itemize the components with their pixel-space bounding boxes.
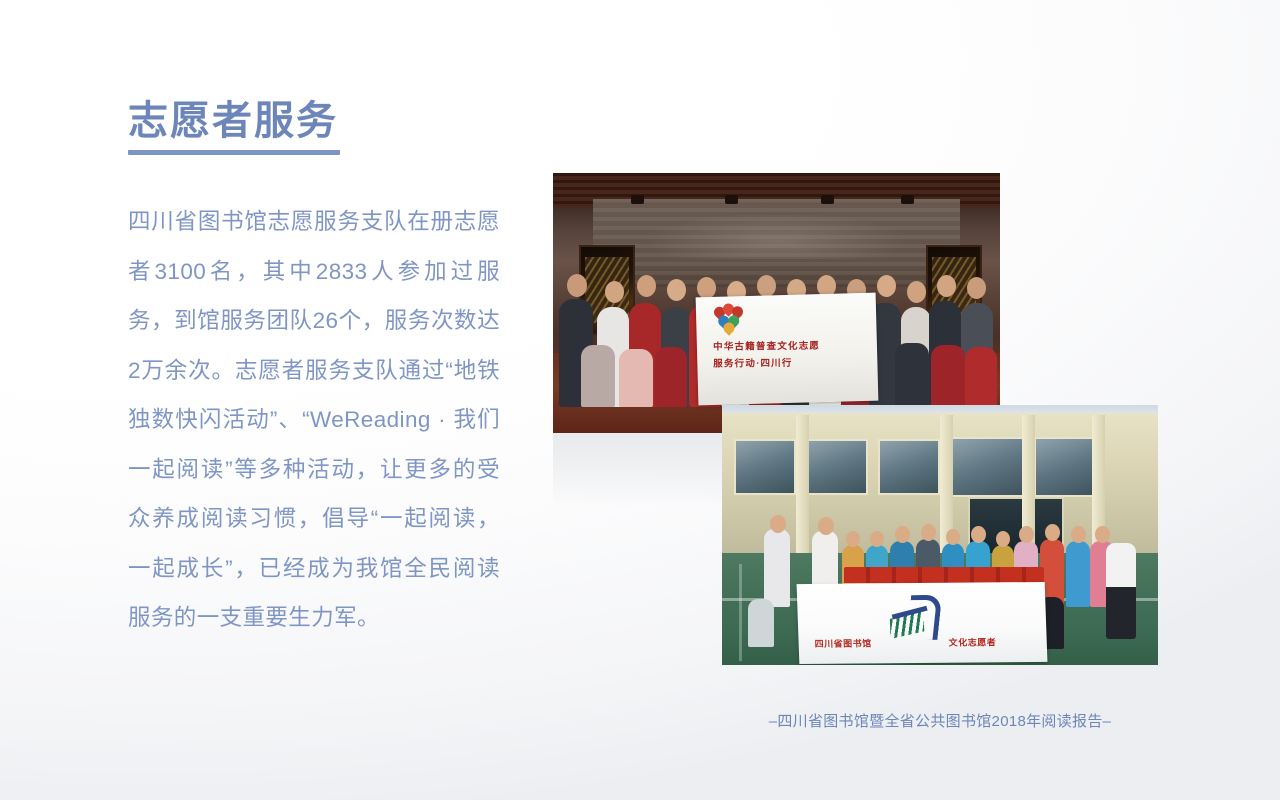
page-title: 志愿者服务 xyxy=(128,97,458,145)
photo2-adult-staff-member xyxy=(1106,543,1136,639)
title-block: 志愿者服务 xyxy=(128,97,458,155)
photo1-white-banner: 中华古籍普查文化志愿 服务行动·四川行 xyxy=(696,293,879,406)
photo2-banner-text-right: 文化志愿者 xyxy=(948,635,996,648)
slide-caption: –四川省图书馆暨全省公共图书馆2018年阅读报告– xyxy=(722,710,1158,731)
photo1-lamp-icon xyxy=(725,195,738,204)
slide-canvas: 志愿者服务 四川省图书馆志愿服务支队在册志愿者3100名，其中2833人参加过服… xyxy=(0,0,1280,800)
photo1-lamp-icon xyxy=(821,195,834,204)
body-text-block: 四川省图书馆志愿服务支队在册志愿者3100名，其中2833人参加过服务，到馆服务… xyxy=(128,197,500,643)
sichuan-library-logo-icon xyxy=(889,595,943,639)
photo1-lamp-icon xyxy=(901,195,914,204)
volunteer-group-photo: 中华古籍普查文化志愿 服务行动·四川行 xyxy=(553,173,1000,433)
photo2-banner-text-left: 四川省图书馆 xyxy=(814,636,871,649)
photo2-white-banner: 四川省图书馆 文化志愿者 xyxy=(797,582,1048,664)
photo1-banner-text: 中华古籍普查文化志愿 服务行动·四川行 xyxy=(713,338,863,373)
photo1-lamp-icon xyxy=(631,195,644,204)
school-donation-photo: 四川省图书馆 文化志愿者 xyxy=(722,405,1158,665)
chinese-ancient-books-logo-icon xyxy=(712,306,747,335)
title-underline-rule xyxy=(128,150,340,155)
body-paragraph: 四川省图书馆志愿服务支队在册志愿者3100名，其中2833人参加过服务，到馆服务… xyxy=(128,197,500,643)
